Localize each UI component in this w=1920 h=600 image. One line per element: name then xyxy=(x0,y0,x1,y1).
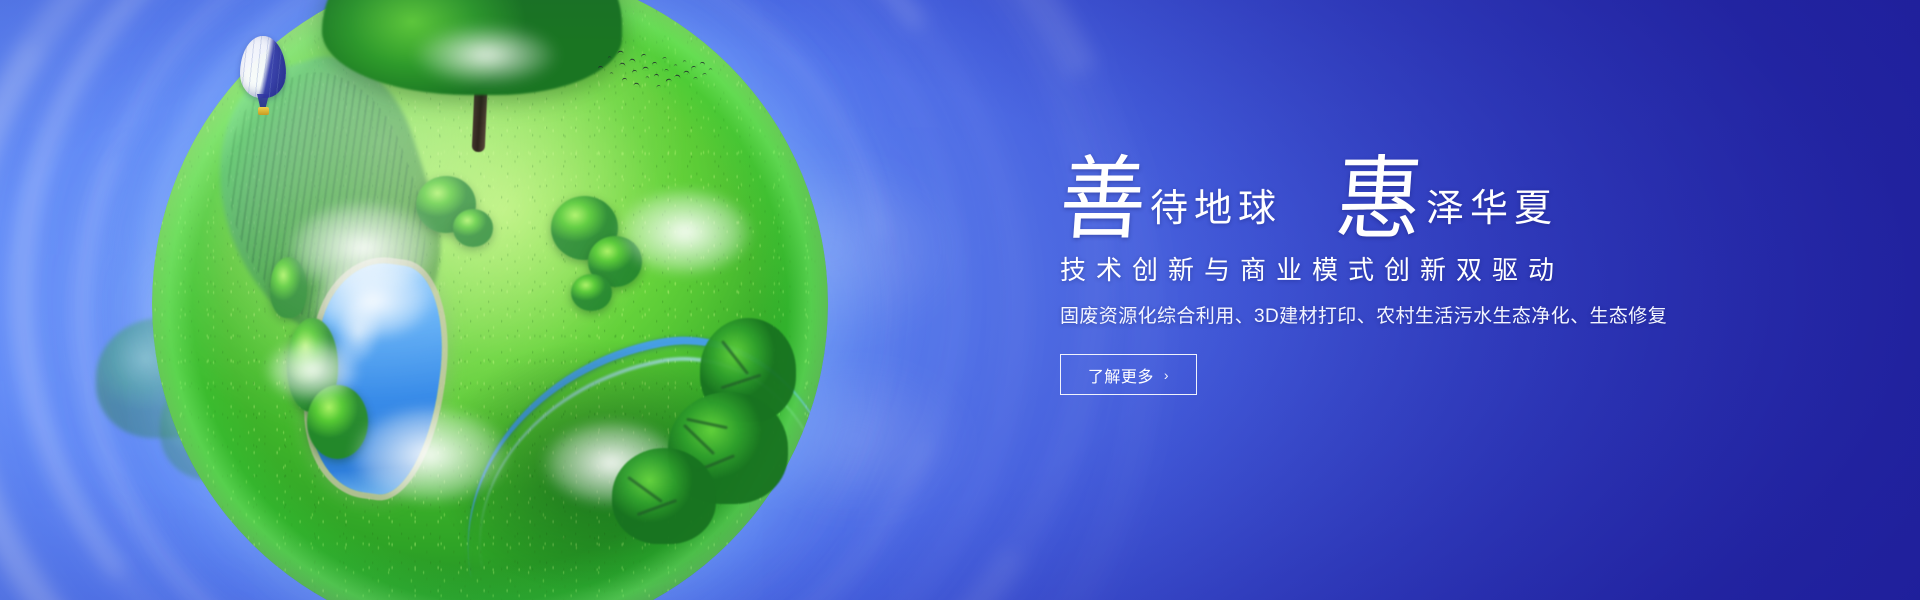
headline: 善 待地球 惠 泽华夏 xyxy=(1060,148,1680,240)
hero-banner: 善 待地球 惠 泽华夏 技术创新与商业模式创新双驱动 固废资源化综合利用、3D建… xyxy=(0,0,1920,600)
headline-group-2: 惠 泽华夏 xyxy=(1336,161,1558,240)
headline-description: 固废资源化综合利用、3D建材打印、农村生活污水生态净化、生态修复 xyxy=(1060,304,1680,331)
learn-more-label: 了解更多 xyxy=(1088,363,1154,387)
learn-more-button[interactable]: 了解更多 › xyxy=(1060,354,1197,395)
headline-subtitle: 技术创新与商业模式创新双驱动 xyxy=(1060,254,1680,288)
headline-group-1: 善 待地球 xyxy=(1060,161,1282,240)
hero-copy: 善 待地球 惠 泽华夏 技术创新与商业模式创新双驱动 固废资源化综合利用、3D建… xyxy=(1060,148,1680,395)
headline-big-char-2: 惠 xyxy=(1333,159,1425,243)
headline-small-text-1: 待地球 xyxy=(1150,190,1282,240)
headline-small-text-2: 泽华夏 xyxy=(1426,190,1558,240)
headline-big-char-1: 善 xyxy=(1057,159,1149,243)
chevron-right-icon: › xyxy=(1164,367,1169,383)
